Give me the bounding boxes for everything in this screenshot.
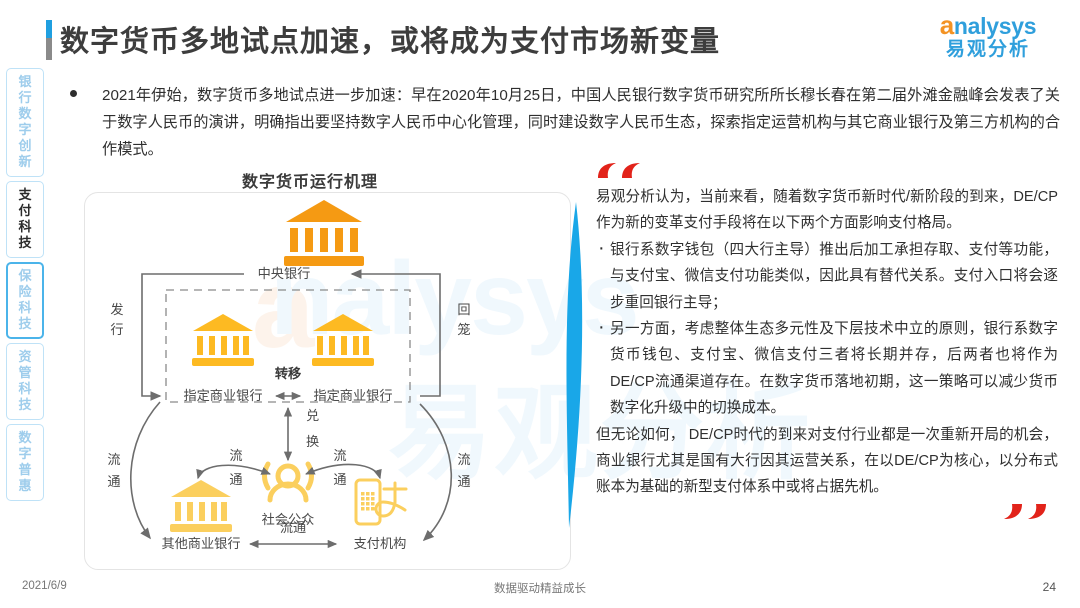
- sidebar-item-digital-inclusive-finance[interactable]: 数字普惠: [6, 424, 44, 501]
- edge-label-circulate-right-2: 通: [457, 474, 470, 489]
- edge-label-exchange-2: 换: [306, 434, 319, 449]
- analysis-bullet-1: 银行系数字钱包（四大行主导）推出后加工承担存取、支付等功能，与支付宝、微信支付功…: [596, 237, 1058, 316]
- sidebar-item-char: 保: [8, 268, 42, 284]
- edge-label-circulate-left-1: 流: [107, 452, 120, 467]
- node-label-designated-bank-left: 指定商业银行: [183, 388, 262, 403]
- sidebar-item-payment-tech[interactable]: 支付科技: [6, 181, 44, 258]
- sidebar-item-char: 新: [7, 154, 43, 170]
- sidebar-item-char: 支: [7, 187, 43, 203]
- quote-open-icon: [596, 162, 1058, 184]
- designated-bank-right-icon: [312, 314, 374, 366]
- edge-label-recall-1: 回: [457, 302, 470, 317]
- sidebar-item-char: 字: [7, 122, 43, 138]
- edge-label-circulate-left-2: 通: [107, 474, 120, 489]
- sidebar-item-char: 惠: [7, 478, 43, 494]
- edge-label-circ-pub-right-1: 流: [333, 448, 346, 463]
- sidebar-item-insurance-tech[interactable]: 保险科技: [6, 262, 44, 339]
- sidebar-item-char: 银: [7, 74, 43, 90]
- logo-en-label: nalysys: [954, 13, 1036, 39]
- edge-label-issue-2: 行: [110, 322, 123, 337]
- header: 数字货币多地试点加速，或将成为支付市场新变量 analysys 易观分析: [0, 0, 1080, 72]
- node-label-payment-org: 支付机构: [354, 536, 407, 551]
- sidebar: 银行数字创新 支付科技 保险科技 资管科技 数字普惠: [6, 68, 46, 505]
- blue-lens-divider: [556, 200, 596, 530]
- sidebar-item-char: 技: [7, 397, 43, 413]
- logo-swoosh-icon: a: [940, 10, 954, 40]
- edge-label-circ-pub-left-2: 通: [229, 472, 242, 487]
- other-bank-icon: [170, 480, 232, 532]
- node-label-designated-bank-right: 指定商业银行: [313, 388, 392, 403]
- analysis-bullet-2: 另一方面，考虑整体生态多元性及下层技术中立的原则，银行系数字货币钱包、支付宝、微…: [596, 316, 1058, 422]
- edge-label-transfer: 转移: [275, 365, 301, 381]
- footer: 2021/6/9 数据驱动精益成长 24: [0, 580, 1080, 600]
- public-person-icon: [265, 464, 312, 500]
- designated-bank-left-icon: [192, 314, 254, 366]
- intro-bullet-text: 2021年伊始，数字货币多地试点进一步加速：早在2020年10月25日，中国人民…: [102, 82, 1060, 163]
- sidebar-item-char: 技: [7, 235, 43, 251]
- edge-label-circ-pub-right-2: 通: [333, 472, 346, 487]
- sidebar-item-char: 科: [7, 219, 43, 235]
- node-label-central-bank: 中央银行: [258, 266, 311, 281]
- footer-page-number: 24: [1043, 580, 1056, 594]
- sidebar-item-char: 科: [8, 300, 42, 316]
- sidebar-item-char: 资: [7, 349, 43, 365]
- central-bank-icon: [284, 200, 364, 266]
- edge-label-recall-2: 笼: [457, 321, 470, 337]
- logo-en-text: analysys: [920, 12, 1056, 39]
- edge-label-circulate-right-1: 流: [457, 452, 470, 467]
- node-label-other-bank: 其他商业银行: [161, 536, 240, 551]
- edge-label-issue-1: 发: [110, 302, 123, 317]
- analysis-panel: 易观分析认为，当前来看，随着数字货币新时代/新阶段的到来，DE/CP作为新的变革…: [596, 162, 1058, 501]
- sidebar-item-char: 技: [8, 316, 42, 332]
- sidebar-item-char: 行: [7, 90, 43, 106]
- sidebar-item-char: 管: [7, 365, 43, 381]
- edge-label-circulate-bottom: 流通: [280, 520, 306, 535]
- sidebar-item-char: 创: [7, 138, 43, 154]
- sidebar-item-char: 普: [7, 462, 43, 478]
- analysys-logo: analysys 易观分析: [920, 12, 1056, 66]
- sidebar-item-asset-management-tech[interactable]: 资管科技: [6, 343, 44, 420]
- sidebar-item-char: 险: [8, 284, 42, 300]
- sidebar-item-char: 数: [7, 106, 43, 122]
- quote-close-icon: [1002, 502, 1052, 527]
- currency-flow-diagram: 中央银行 发 行 回 笼 指定商业银行 指定商业银行 转移 兑 换: [84, 192, 571, 570]
- edge-label-exchange-1: 兑: [306, 408, 319, 423]
- intro-bullet-block: 2021年伊始，数字货币多地试点进一步加速：早在2020年10月25日，中国人民…: [70, 82, 1060, 163]
- footer-slogan: 数据驱动精益成长: [0, 580, 1080, 596]
- title-accent-bar: [46, 20, 52, 60]
- logo-cn-label: 易观分析: [920, 39, 1056, 61]
- sidebar-item-char: 科: [7, 381, 43, 397]
- sidebar-item-bank-digital-innovation[interactable]: 银行数字创新: [6, 68, 44, 177]
- sidebar-item-char: 字: [7, 446, 43, 462]
- edge-label-circ-pub-left-1: 流: [229, 448, 242, 463]
- bullet-dot-icon: [70, 90, 77, 97]
- diagram-title: 数字货币运行机理: [140, 168, 480, 192]
- analysis-conclusion: 但无论如何， DE/CP时代的到来对支付行业都是一次重新开局的机会，商业银行尤其…: [596, 422, 1058, 501]
- analysis-intro: 易观分析认为，当前来看，随着数字货币新时代/新阶段的到来，DE/CP作为新的变革…: [596, 184, 1058, 237]
- payment-org-icon: [356, 480, 406, 524]
- analysis-bullet-list: 银行系数字钱包（四大行主导）推出后加工承担存取、支付等功能，与支付宝、微信支付功…: [596, 237, 1058, 422]
- sidebar-item-char: 付: [7, 203, 43, 219]
- sidebar-item-char: 数: [7, 430, 43, 446]
- page-title: 数字货币多地试点加速，或将成为支付市场新变量: [60, 18, 720, 60]
